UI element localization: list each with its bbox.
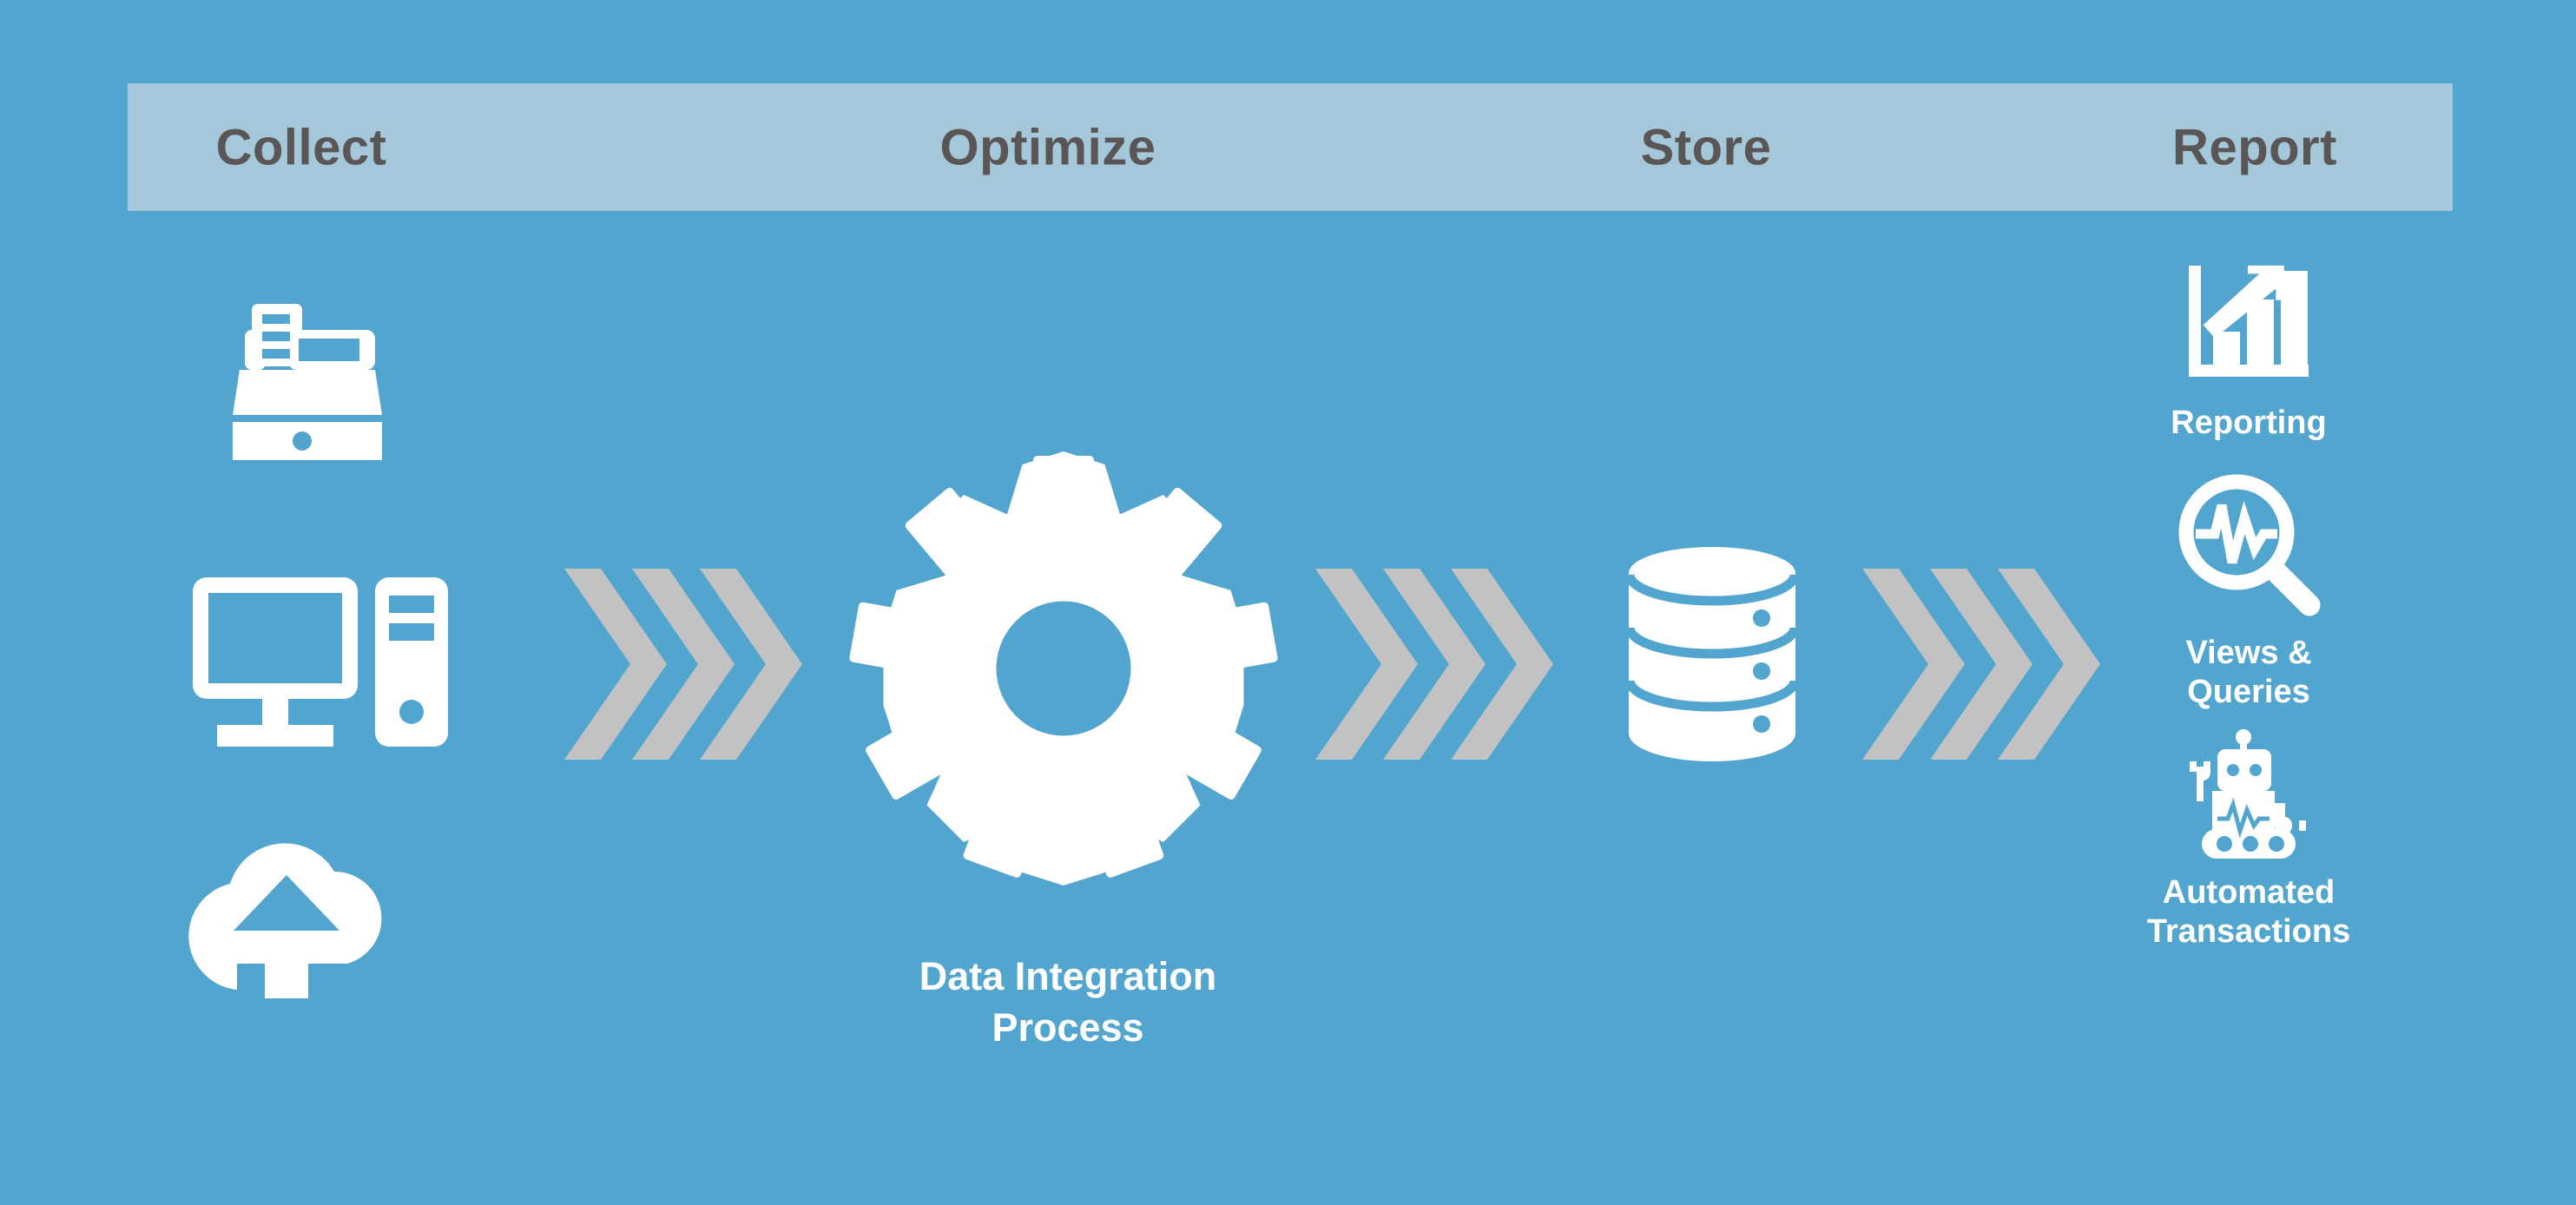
gear-icon — [847, 451, 1281, 890]
report-caption-reporting: Reporting — [2171, 404, 2326, 443]
report-item-reporting: Reporting — [2066, 260, 2431, 443]
flow-arrows-optimize-to-store — [1315, 569, 1576, 760]
header-stage-collect: Collect — [216, 118, 387, 176]
flow-arrows-collect-to-optimize — [564, 569, 825, 760]
process-caption: Data Integration Process — [781, 951, 1354, 1054]
report-caption-views-queries: Views & Queries — [2185, 634, 2311, 712]
cloud-upload-icon — [169, 833, 404, 1003]
database-cylinder-icon — [1625, 547, 1799, 768]
header-stage-store: Store — [1641, 118, 1772, 176]
bar-chart-icon — [2184, 260, 2314, 395]
stage-header-band: Collect Optimize Store Report — [128, 83, 2453, 211]
desktop-computer-icon — [193, 573, 479, 751]
report-item-automated-transactions: Automated Transactions — [2066, 730, 2431, 951]
report-item-views-queries: Views & Queries — [2066, 469, 2431, 712]
header-stage-optimize: Optimize — [940, 118, 1156, 176]
report-outputs-column: Reporting Views & Queries — [2066, 260, 2431, 951]
header-stage-report: Report — [2172, 118, 2337, 176]
report-caption-automated-transactions: Automated Transactions — [2147, 873, 2350, 951]
robot-icon — [2177, 730, 2321, 865]
magnifier-pulse-icon — [2173, 469, 2325, 625]
cash-register-icon — [208, 304, 391, 464]
